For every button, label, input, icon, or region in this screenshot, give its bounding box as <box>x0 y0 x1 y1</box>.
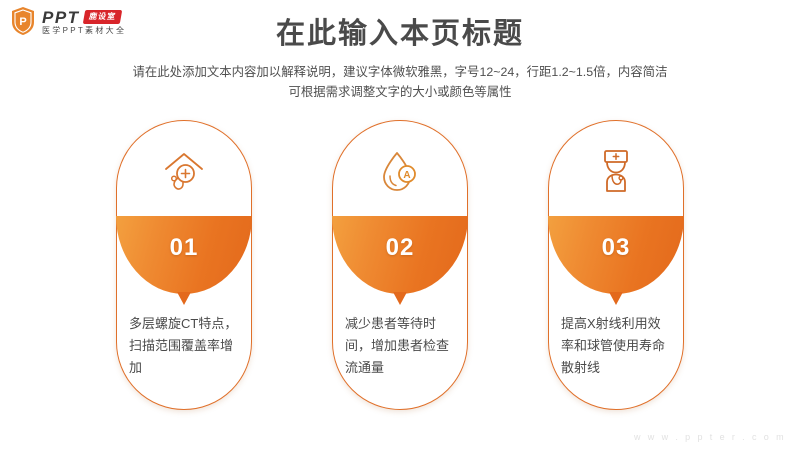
number-bowl-tail <box>177 292 191 305</box>
clinic-house-stethoscope-icon <box>116 140 252 204</box>
card-number: 01 <box>117 234 251 262</box>
card-number: 03 <box>549 234 683 262</box>
card-description: 提高X射线利用效率和球管使用寿命散射线 <box>561 313 671 378</box>
feature-card-03[interactable]: 03 提高X射线利用效率和球管使用寿命散射线 <box>548 120 684 410</box>
feature-card-01[interactable]: 01 多层螺旋CT特点，扫描范围覆盖率增加 <box>116 120 252 410</box>
number-bowl-tail <box>609 292 623 305</box>
subtitle-line-1: 请在此处添加文本内容加以解释说明，建议字体微软雅黑，字号12~24，行距1.2~… <box>60 62 740 82</box>
subtitle-line-2: 可根据需求调整文字的大小或颜色等属性 <box>60 82 740 102</box>
page-title: 在此输入本页标题 <box>0 18 800 51</box>
svg-text:A: A <box>403 170 410 181</box>
blood-drop-type-a-icon: A <box>332 140 468 204</box>
number-bowl-tail <box>393 292 407 305</box>
doctor-stethoscope-icon <box>548 140 684 204</box>
card-group: 01 多层螺旋CT特点，扫描范围覆盖率增加 A 02 减少患者等待时间，增加患者… <box>0 120 800 412</box>
footer-watermark: w w w . p p t e r . c o m <box>634 432 786 442</box>
feature-card-02[interactable]: A 02 减少患者等待时间，增加患者检查流通量 <box>332 120 468 410</box>
card-description: 减少患者等待时间，增加患者检查流通量 <box>345 313 455 378</box>
page-subtitle: 请在此处添加文本内容加以解释说明，建议字体微软雅黑，字号12~24，行距1.2~… <box>60 62 740 103</box>
card-description: 多层螺旋CT特点，扫描范围覆盖率增加 <box>129 313 239 378</box>
card-number: 02 <box>333 234 467 262</box>
